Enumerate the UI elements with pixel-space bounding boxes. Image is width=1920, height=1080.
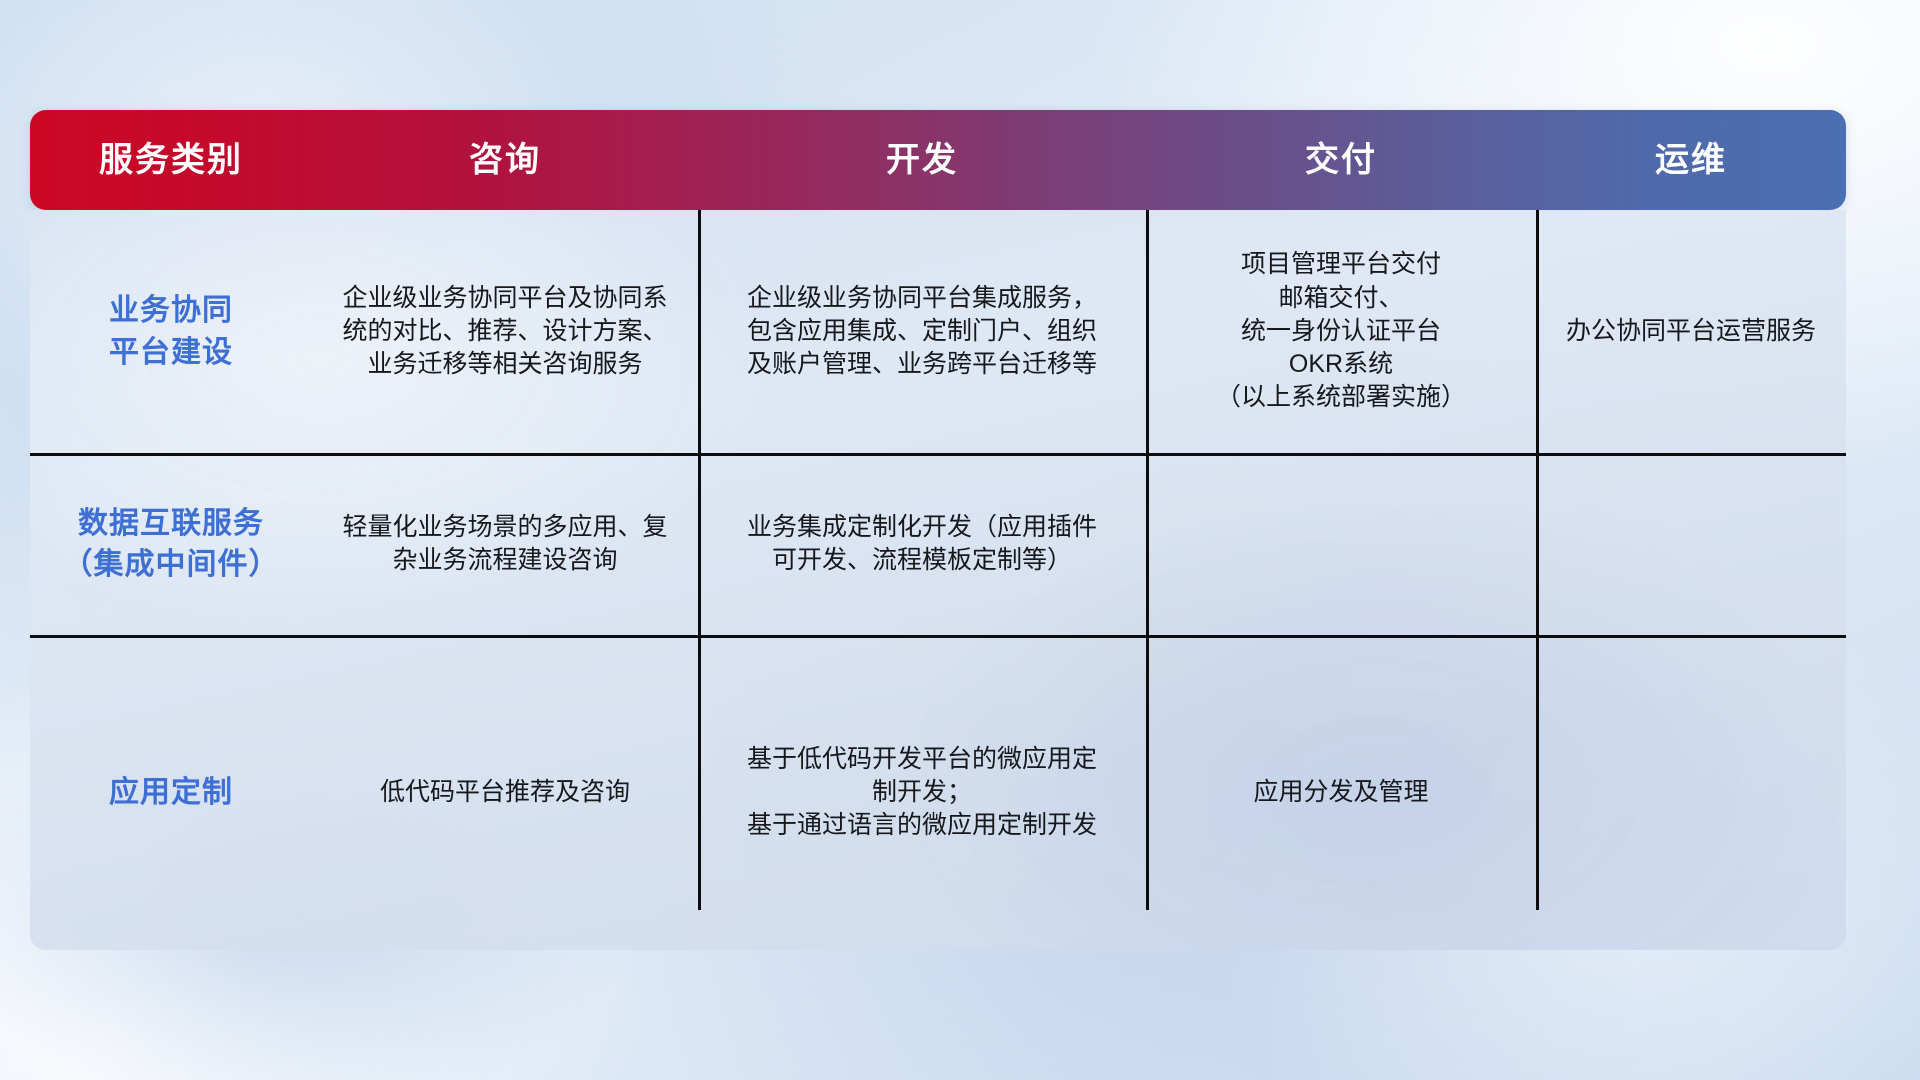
table-header-row: 服务类别 咨询 开发 交付 运维	[30, 110, 1846, 210]
slide-canvas: 服务类别 咨询 开发 交付 运维 业务协同 平台建设 企业级业务协同平台及协同系…	[0, 0, 1920, 1080]
row-3-delivery: 应用分发及管理	[1146, 776, 1536, 809]
row-1-development: 企业级业务协同平台集成服务， 包含应用集成、定制门户、组织 及账户管理、业务跨平…	[698, 282, 1146, 382]
service-matrix-table: 服务类别 咨询 开发 交付 运维 业务协同 平台建设 企业级业务协同平台及协同系…	[30, 110, 1846, 950]
row-1-category: 业务协同 平台建设	[30, 290, 312, 373]
row-1-consulting: 企业级业务协同平台及协同系 统的对比、推荐、设计方案、 业务迁移等相关咨询服务	[312, 282, 698, 382]
column-header-service-category: 服务类别	[30, 143, 312, 177]
column-header-development: 开发	[698, 143, 1146, 177]
column-header-consulting: 咨询	[312, 143, 698, 177]
row-3-consulting: 低代码平台推荐及咨询	[312, 776, 698, 809]
column-header-delivery: 交付	[1146, 143, 1536, 177]
row-3-category: 应用定制	[30, 772, 312, 813]
row-2-development: 业务集成定制化开发（应用插件 可开发、流程模板定制等）	[698, 511, 1146, 578]
table-row: 业务协同 平台建设 企业级业务协同平台及协同系 统的对比、推荐、设计方案、 业务…	[30, 210, 1846, 453]
table-body: 业务协同 平台建设 企业级业务协同平台及协同系 统的对比、推荐、设计方案、 业务…	[30, 210, 1846, 950]
row-2-consulting: 轻量化业务场景的多应用、复 杂业务流程建设咨询	[312, 511, 698, 578]
row-1-delivery: 项目管理平台交付 邮箱交付、 统一身份认证平台 OKR系统 （以上系统部署实施）	[1146, 248, 1536, 414]
table-row: 数据互联服务 （集成中间件） 轻量化业务场景的多应用、复 杂业务流程建设咨询 业…	[30, 453, 1846, 635]
row-1-operations: 办公协同平台运营服务	[1536, 315, 1846, 348]
row-3-development: 基于低代码开发平台的微应用定 制开发； 基于通过语言的微应用定制开发	[698, 743, 1146, 843]
column-header-operations: 运维	[1536, 143, 1846, 177]
row-2-category: 数据互联服务 （集成中间件）	[30, 503, 312, 586]
table-row: 应用定制 低代码平台推荐及咨询 基于低代码开发平台的微应用定 制开发； 基于通过…	[30, 635, 1846, 950]
